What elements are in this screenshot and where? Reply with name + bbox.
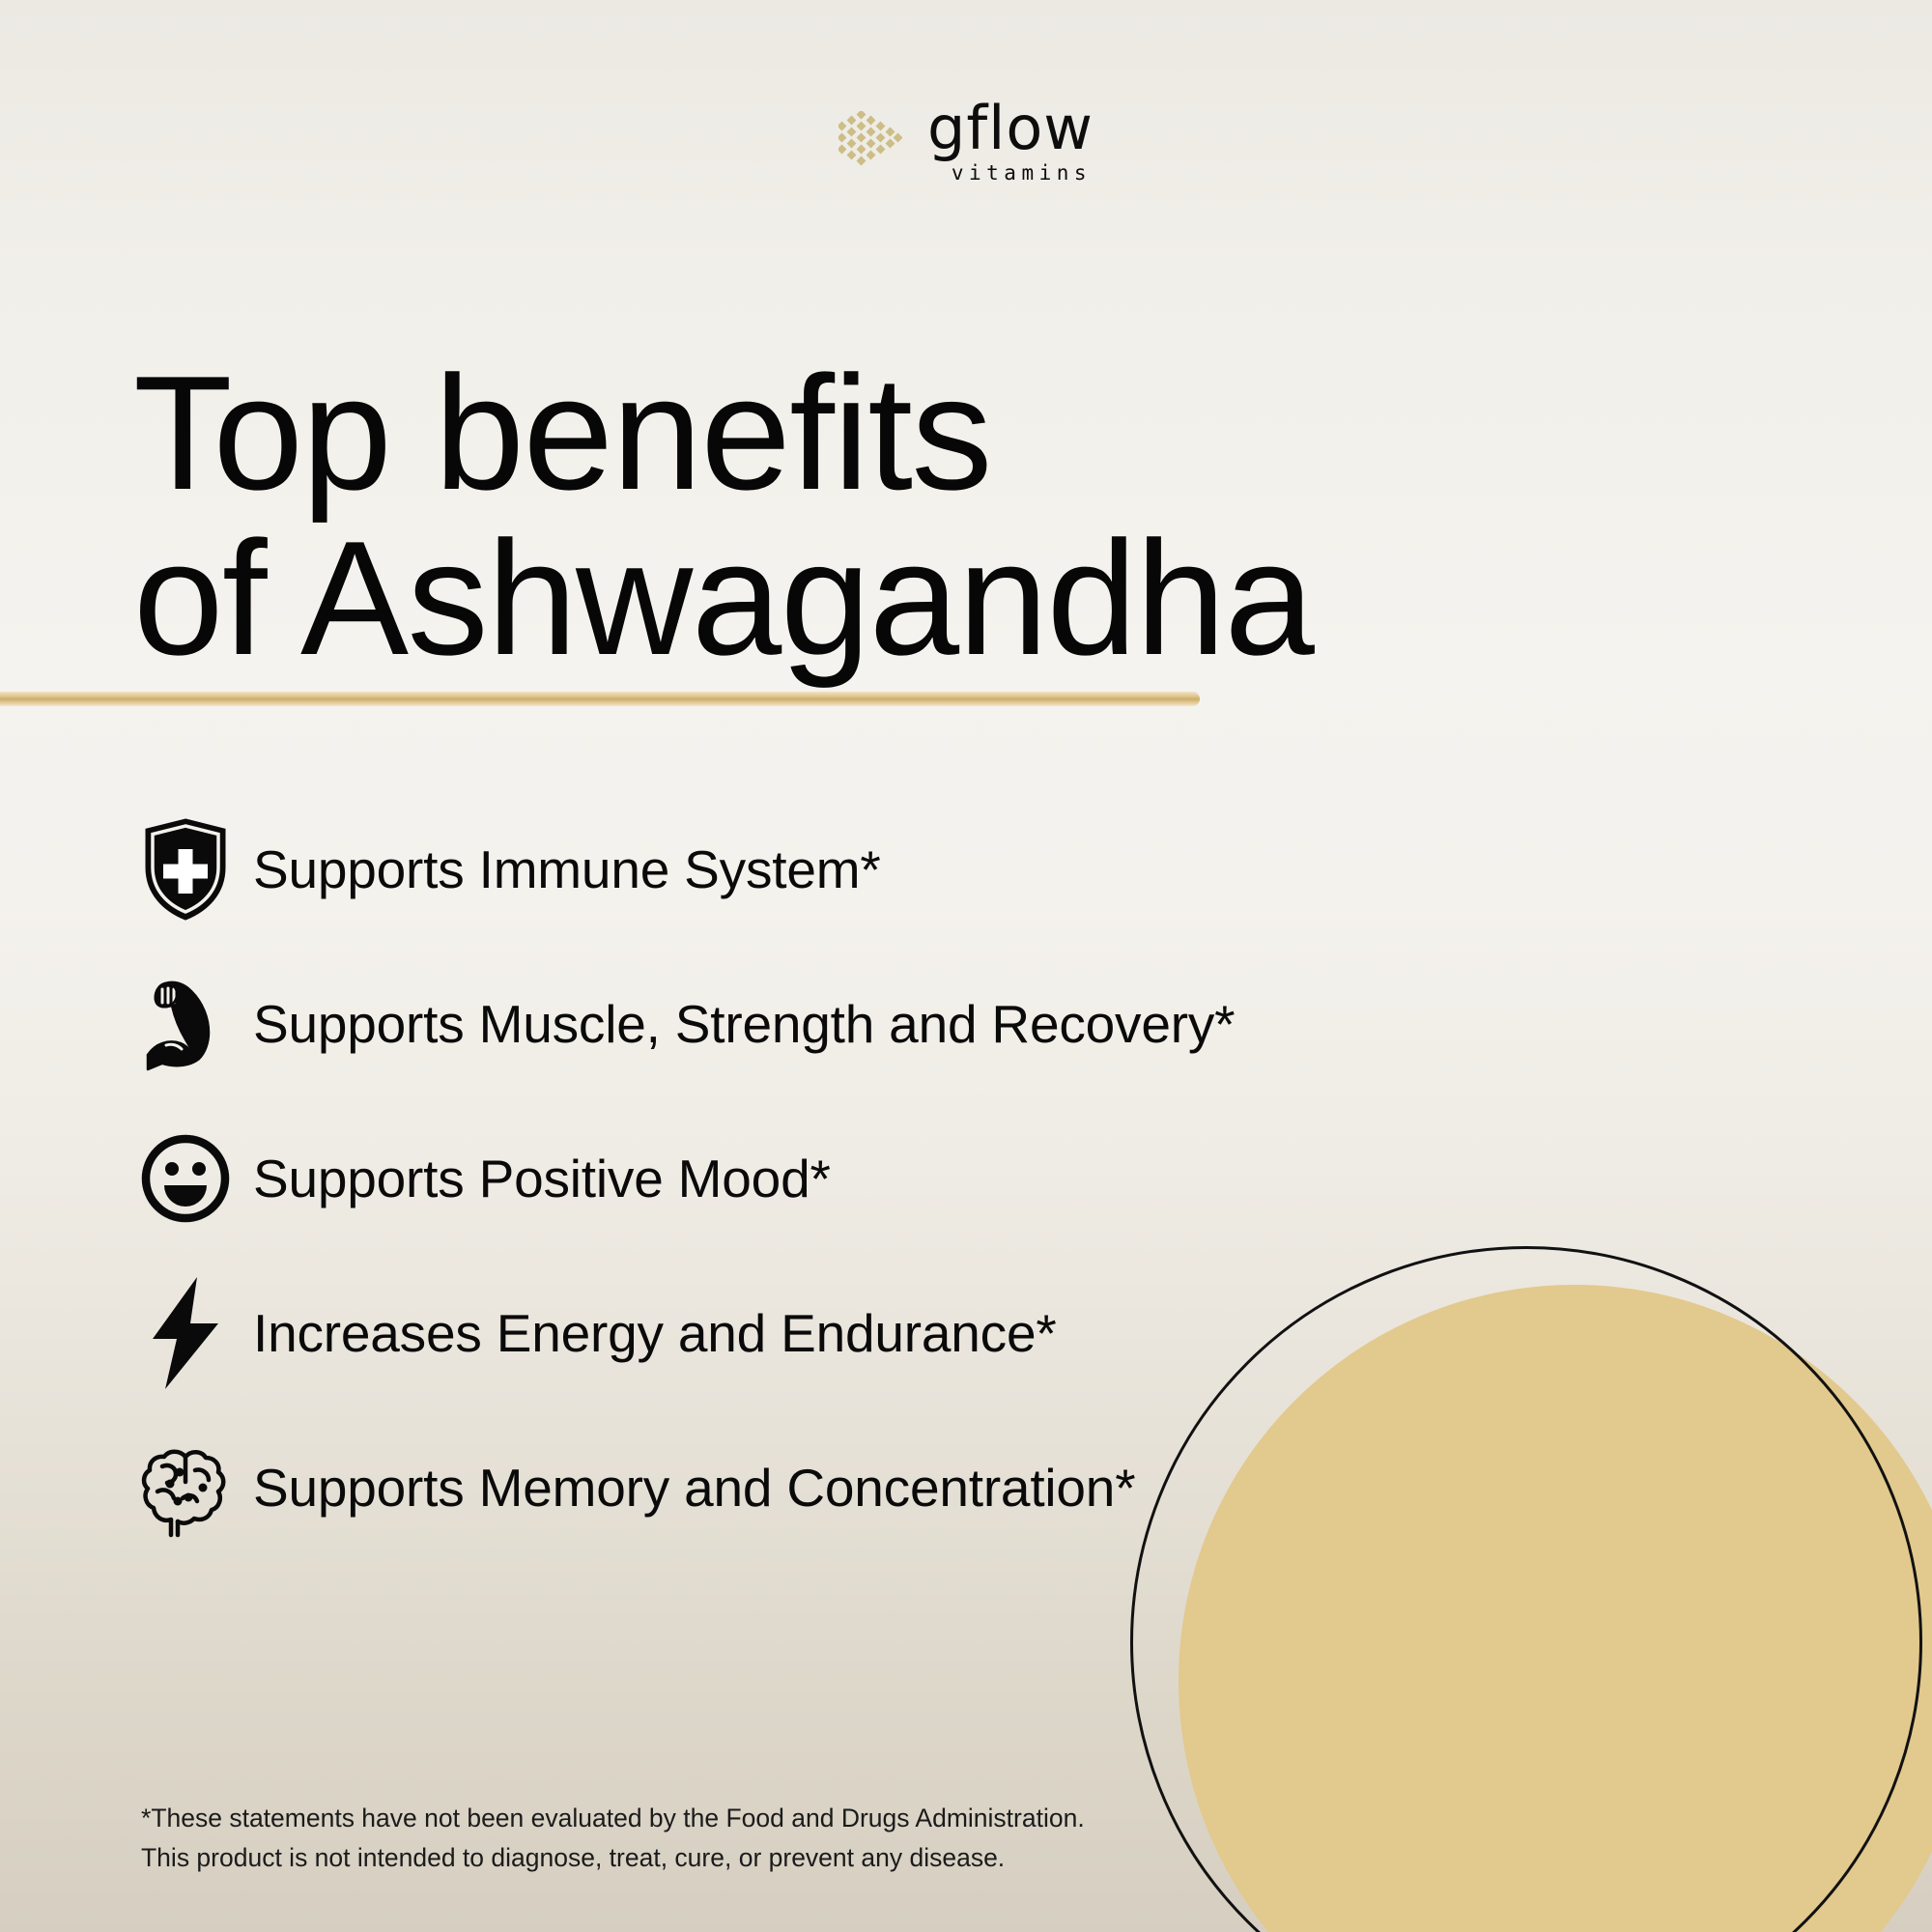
list-item-label: Supports Positive Mood* [253, 1148, 831, 1209]
list-item: Supports Positive Mood* [124, 1101, 1785, 1256]
lightning-bolt-icon [124, 1275, 247, 1391]
list-item-label: Supports Immune System* [253, 838, 881, 900]
benefits-list: Supports Immune System* [124, 792, 1785, 1565]
brand-name: gflow [927, 100, 1094, 157]
list-item: Supports Immune System* [124, 792, 1785, 947]
flexed-bicep-icon [124, 974, 247, 1074]
poster-canvas: gflow vitamins Top benefits of Ashwagand… [0, 0, 1932, 1932]
disclaimer-line-2: This product is not intended to diagnose… [141, 1838, 1085, 1878]
list-item: Supports Memory and Concentration* [124, 1410, 1785, 1565]
list-item-label: Increases Energy and Endurance* [253, 1302, 1057, 1364]
list-item-label: Supports Muscle, Strength and Recovery* [253, 993, 1235, 1055]
list-item: Supports Muscle, Strength and Recovery* [124, 947, 1785, 1101]
disclaimer-text: *These statements have not been evaluate… [141, 1799, 1085, 1878]
gold-divider [0, 692, 1200, 706]
list-item-label: Supports Memory and Concentration* [253, 1457, 1135, 1519]
gflow-chevron-dot-mark-icon [838, 111, 902, 174]
brand-logo: gflow vitamins [0, 100, 1932, 185]
shield-cross-icon [124, 817, 247, 922]
page-title: Top benefits of Ashwagandha [133, 351, 1679, 682]
smiley-face-icon [124, 1131, 247, 1226]
list-item: Increases Energy and Endurance* [124, 1256, 1785, 1410]
page-title-line-2: of Ashwagandha [133, 516, 1679, 681]
brand-tagline: vitamins [952, 161, 1092, 185]
page-title-line-1: Top benefits [133, 342, 991, 524]
brain-icon [124, 1437, 247, 1538]
disclaimer-line-1: *These statements have not been evaluate… [141, 1799, 1085, 1838]
